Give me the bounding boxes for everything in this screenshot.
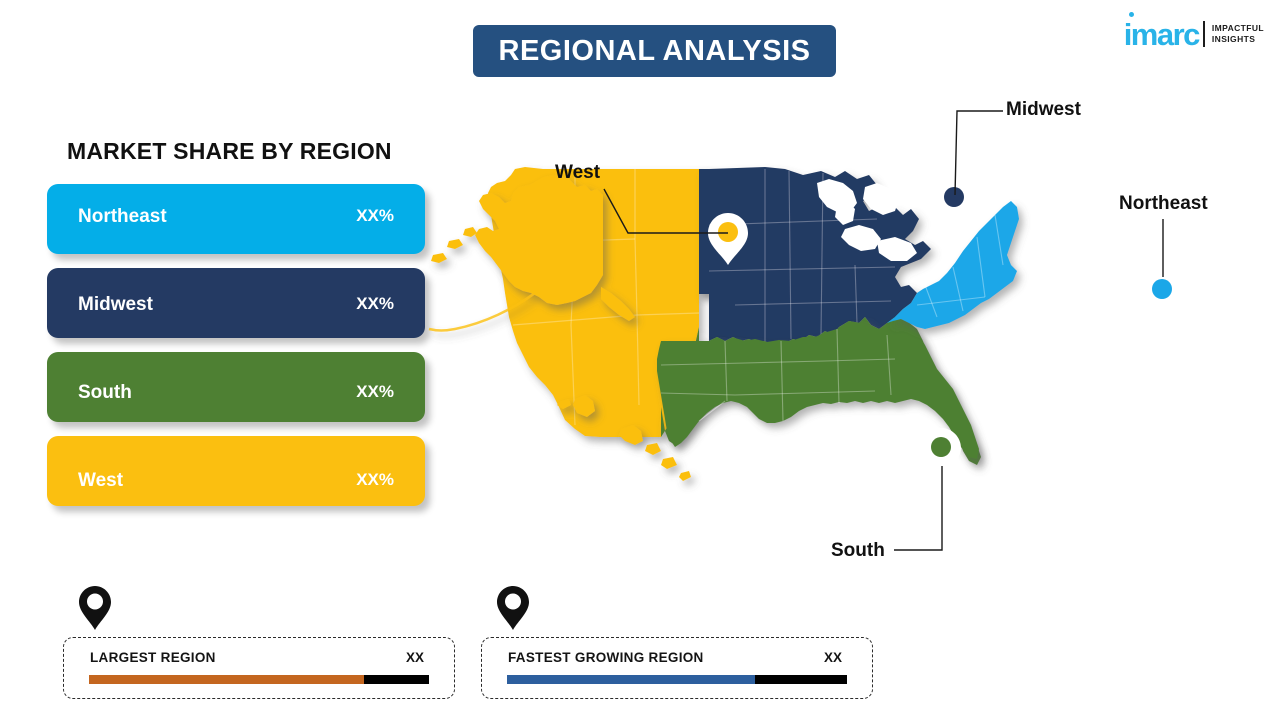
imarc-logo: imarc IMPACTFUL INSIGHTS — [1124, 14, 1264, 54]
leader-line-midwest — [945, 105, 1015, 205]
map-label-south: South — [831, 540, 885, 562]
leader-line-west — [600, 185, 730, 245]
fastest-growing-region-title: FASTEST GROWING REGION — [508, 650, 704, 665]
logo-tagline-line2: INSIGHTS — [1212, 34, 1264, 45]
bar-northeast-value: XX% — [356, 206, 394, 226]
bar-midwest-value: XX% — [356, 294, 394, 314]
page-title: REGIONAL ANALYSIS — [499, 35, 811, 68]
leader-line-south — [890, 462, 960, 562]
largest-region-fill — [89, 675, 364, 684]
bar-west-value: XX% — [356, 470, 394, 490]
market-share-bar-list: Northeast XX% Midwest XX% South XX% West… — [47, 184, 425, 520]
bar-south[interactable]: South XX% — [47, 352, 425, 422]
bar-south-label: South — [78, 382, 132, 404]
logo-wordmark: imarc — [1124, 19, 1199, 50]
fastest-growing-region-fill — [507, 675, 755, 684]
bar-midwest[interactable]: Midwest XX% — [47, 268, 425, 338]
bar-northeast[interactable]: Northeast XX% — [47, 184, 425, 254]
largest-region-box: LARGEST REGION XX — [63, 637, 455, 699]
leader-line-northeast — [1155, 217, 1179, 279]
map-label-northeast: Northeast — [1119, 193, 1208, 215]
logo-divider — [1203, 21, 1205, 47]
market-share-heading: MARKET SHARE BY REGION — [67, 138, 392, 165]
map-pin-icon — [78, 585, 112, 631]
bar-west-label: West — [78, 470, 123, 492]
logo-tagline-line1: IMPACTFUL — [1212, 23, 1264, 34]
logo-tagline: IMPACTFUL INSIGHTS — [1212, 23, 1264, 44]
bar-south-value: XX% — [356, 382, 394, 402]
fastest-growing-region-box: FASTEST GROWING REGION XX — [481, 637, 873, 699]
bar-west[interactable]: West XX% — [47, 436, 425, 506]
logo-wordmark-text: imarc — [1124, 17, 1199, 52]
bar-northeast-label: Northeast — [78, 206, 167, 228]
regional-analysis-infographic: REGIONAL ANALYSIS imarc IMPACTFUL INSIGH… — [0, 0, 1280, 720]
largest-region-track — [89, 675, 429, 684]
logo-dot-icon — [1129, 12, 1134, 17]
bar-midwest-label: Midwest — [78, 294, 153, 316]
page-title-banner: REGIONAL ANALYSIS — [473, 25, 836, 77]
map-label-west: West — [555, 162, 600, 184]
largest-region-title: LARGEST REGION — [90, 650, 216, 665]
map-label-midwest: Midwest — [1006, 99, 1081, 121]
fastest-growing-region-value: XX — [824, 650, 842, 665]
fastest-growing-region-track — [507, 675, 847, 684]
largest-region-value: XX — [406, 650, 424, 665]
map-pin-icon — [496, 585, 530, 631]
